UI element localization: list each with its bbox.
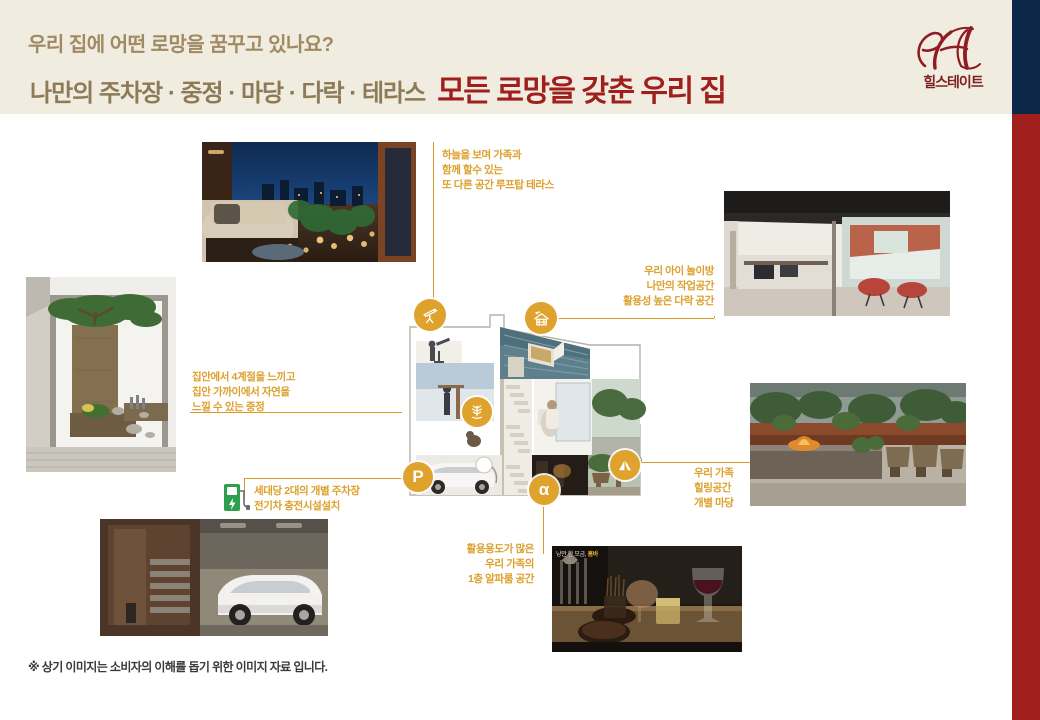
disclaimer-note: ※ 상기 이미지는 소비자의 이해를 돕기 위한 이미지 자료 입니다. (28, 658, 327, 675)
annotation-parking: 세대당 2대의 개별 주차장 전기차 충전시설설치 (254, 484, 360, 514)
yard-firepit-image (750, 383, 966, 506)
header-banner: 우리 집에 어떤 로망을 꿈꾸고 있나요? 나만의 주차장 · 중정 · 마당 … (0, 0, 1012, 114)
letter-p-icon: P (412, 468, 423, 485)
connector-rooftop-v1 (433, 142, 434, 160)
script-h-logo-icon (905, 24, 1001, 74)
home-bar-caption: 낭만 한 모금, 홈바 (556, 549, 598, 558)
connector-parking-h (244, 478, 404, 479)
rooftop-terrace-image (202, 142, 416, 262)
annotation-alpharoom: 활용용도가 많은 우리 가족의 1층 알파룸 공간 (400, 542, 534, 588)
tree-icon-badge (462, 397, 492, 427)
telescope-icon-badge (414, 299, 446, 331)
house-outline-graphic (404, 305, 646, 500)
photo-outdoor-yard-firepit (750, 383, 966, 506)
telescope-icon (421, 306, 440, 325)
photo-attic-room (724, 191, 950, 316)
letter-alpha-icon: α (539, 481, 549, 498)
garage-parking-image (100, 519, 328, 636)
tent-icon-badge (610, 450, 640, 480)
ev-charger-glyph (222, 481, 250, 513)
house-cross-section-diagram (404, 305, 646, 500)
logo-wordmark: 힐스테이트 (905, 72, 1001, 92)
tent-icon (616, 456, 634, 474)
edge-band-navy (1012, 0, 1040, 114)
annotation-rooftop: 하늘을 보며 가족과 함께 할수 있는 또 다른 공간 루프탑 테라스 (442, 148, 554, 194)
ev-charger-icon (222, 481, 250, 513)
connector-attic-v (714, 316, 715, 318)
hillstate-logo: 힐스테이트 (905, 24, 1001, 100)
photo-rooftop-terrace (202, 142, 416, 262)
parking-letter-badge[interactable]: P (403, 462, 433, 492)
courtyard-image (26, 277, 176, 472)
subtitle-strong: 모든 로망을 갖춘 우리 집 (437, 66, 725, 110)
connector-yard-h (640, 462, 750, 463)
poster-canvas: 우리 집에 어떤 로망을 꿈꾸고 있나요? 나만의 주차장 · 중정 · 마당 … (0, 0, 1040, 720)
attic-room-image (724, 191, 950, 316)
subtitle-light: 나만의 주차장 · 중정 · 마당 · 다락 · 테라스 (30, 73, 425, 108)
page-title: 우리 집에 어떤 로망을 꿈꾸고 있나요? (28, 28, 334, 57)
connector-rooftop-v2 (433, 160, 434, 318)
home-bar-image (552, 546, 742, 652)
annotation-courtyard: 집안에서 4계절을 느끼고 집안 가까이에서 자연을 느낄 수 있는 중정 (192, 370, 295, 416)
attic-window-icon (532, 309, 551, 328)
alpha-room-letter-badge[interactable]: α (529, 475, 559, 505)
annotation-yard: 우리 가족 힐링공간 개별 마당 (694, 466, 734, 512)
photo-courtyard (26, 277, 176, 472)
edge-band-red (1012, 114, 1040, 720)
header-subtitle: 나만의 주차장 · 중정 · 마당 · 다락 · 테라스 모든 로망을 갖춘 우… (30, 66, 726, 110)
photo-garage-parking (100, 519, 328, 636)
attic-window-icon-badge (525, 302, 557, 334)
tree-icon (468, 403, 486, 421)
photo-home-bar-wine: 낭만 한 모금, 홈바 (552, 546, 742, 652)
